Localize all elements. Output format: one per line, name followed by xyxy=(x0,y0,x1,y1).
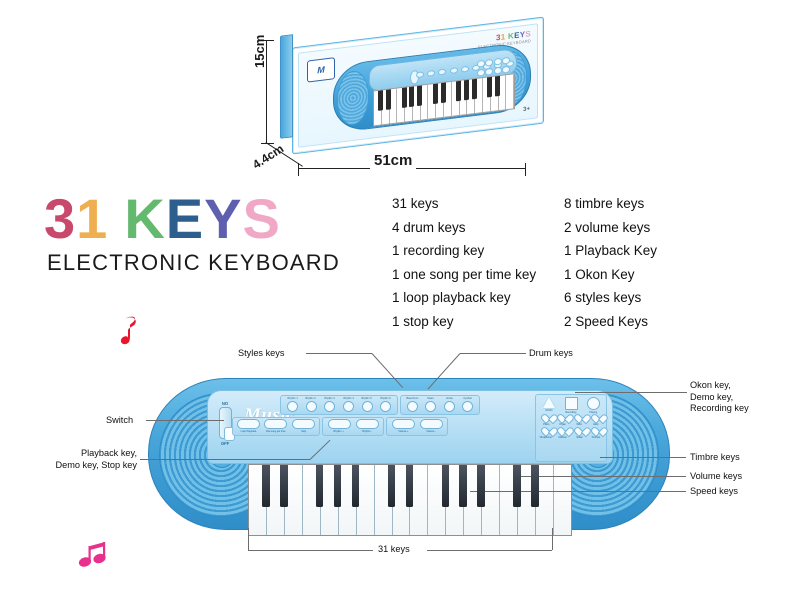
playback-key-label: Loop Playback xyxy=(241,430,257,433)
switch-off-label: OFF xyxy=(216,441,234,446)
styles-key-label: Rhythm 6 xyxy=(381,397,391,400)
headline-title: 31 KEYS xyxy=(44,190,340,248)
heart-icon xyxy=(558,415,567,423)
white-key[interactable] xyxy=(375,465,393,535)
timbre-key[interactable]: Violin xyxy=(572,415,588,427)
timbre-panel: OKON Recording Playing Piano Organ Violi… xyxy=(535,394,607,462)
keyboard-diagram: NO OFF Music Rhythm 1 Rhythm 2 Rhythm 3 … xyxy=(148,370,668,535)
headline-letter-s: S xyxy=(242,190,280,248)
volume-key-label: Volume - xyxy=(426,430,435,433)
white-key[interactable] xyxy=(249,465,267,535)
styles-keys-group: Rhythm 1 Rhythm 2 Rhythm 3 Rhythm 4 Rhyt… xyxy=(280,395,398,415)
white-key[interactable] xyxy=(500,465,518,535)
bracket-line-left xyxy=(248,550,373,551)
heart-icon xyxy=(541,415,550,423)
timbre-key-label: Guitar xyxy=(576,436,583,439)
leader-line-switch xyxy=(146,420,224,421)
leader-line-playback xyxy=(140,459,310,460)
styles-key[interactable]: Rhythm 2 xyxy=(302,397,321,412)
okon-key-label: OKON xyxy=(545,409,552,412)
callout-volume-keys: Volume keys xyxy=(690,471,742,483)
drum-keys-group: Bass Drum Snare Hi-hat Cymbal xyxy=(400,395,480,415)
white-key[interactable] xyxy=(285,465,303,535)
retail-box: M 31 KEYS ELECTRONIC KEYBOARD 3+ xyxy=(292,17,544,155)
drum-key[interactable]: Hi-hat xyxy=(440,397,459,412)
dimension-label-depth: 4.4cm xyxy=(250,141,286,171)
callout-okon-group: Okon key, Demo key, Recording key xyxy=(690,380,749,415)
styles-key-label: Rhythm 5 xyxy=(362,397,372,400)
styles-key-label: Rhythm 1 xyxy=(287,397,297,400)
timbre-key-label: Vibraphone xyxy=(540,436,552,439)
mode-keys-group: OKON Recording Playing xyxy=(536,395,606,414)
playback-key[interactable]: Loop Playback xyxy=(235,419,262,433)
playback-key-label: One song per time xyxy=(266,430,286,433)
heart-icon xyxy=(592,415,601,423)
timbre-key-label: Clarinet xyxy=(558,436,566,439)
control-panel: NO OFF Music Rhythm 1 Rhythm 2 Rhythm 3 … xyxy=(207,390,613,464)
heart-icon xyxy=(541,428,550,436)
callout-okon-line3: Recording key xyxy=(690,403,749,415)
playing-key[interactable]: Playing xyxy=(582,397,604,414)
triangle-icon xyxy=(543,397,555,408)
drum-key-label: Bass Drum xyxy=(406,397,418,400)
package-figure: M 31 KEYS ELECTRONIC KEYBOARD 3+ xyxy=(250,22,560,182)
feature-item: 1 loop playback key xyxy=(392,286,542,310)
playback-keys-group: Loop Playback One song per time Stop xyxy=(232,417,320,436)
brand-logo: M xyxy=(307,57,335,82)
timbre-key-label: Trumpet xyxy=(592,436,601,439)
volume-key[interactable]: Volume - xyxy=(417,419,445,433)
heart-icon xyxy=(558,428,567,436)
drum-key-label: Hi-hat xyxy=(446,397,452,400)
timbre-key[interactable]: Clarinet xyxy=(555,428,571,440)
white-key[interactable] xyxy=(339,465,357,535)
playback-key[interactable]: Stop xyxy=(290,419,317,433)
feature-item: 1 recording key xyxy=(392,239,542,263)
speed-key[interactable]: Rhythm - xyxy=(353,419,381,433)
leader-line-volume xyxy=(520,476,686,477)
okon-key[interactable]: OKON xyxy=(538,397,560,414)
drum-key[interactable]: Bass Drum xyxy=(403,397,422,412)
bracket-left-tick xyxy=(248,528,249,550)
leader-line-drum xyxy=(460,353,526,354)
switch-on-label: NO xyxy=(216,401,234,406)
heart-icon xyxy=(575,428,584,436)
bracket-right-tick xyxy=(552,528,553,550)
feature-item: 1 Playback Key xyxy=(564,239,724,263)
drum-key-label: Cymbal xyxy=(464,397,472,400)
feature-item: 1 one song per time key xyxy=(392,263,542,287)
speed-key[interactable]: Rhythm + xyxy=(325,419,353,433)
white-key[interactable] xyxy=(464,465,482,535)
music-note-pink-icon xyxy=(78,540,112,577)
callout-playback-group: Playback key, Demo key, Stop key xyxy=(12,448,137,471)
leader-line-okon xyxy=(575,392,687,393)
styles-key-label: Rhythm 4 xyxy=(343,397,353,400)
headline-letter-y: Y xyxy=(204,190,242,248)
drum-key-label: Snare xyxy=(428,397,434,400)
box-spine xyxy=(280,34,293,139)
timbre-key[interactable]: Guitar xyxy=(572,428,588,440)
square-icon xyxy=(565,397,578,410)
drum-key[interactable]: Cymbal xyxy=(459,397,478,412)
callout-playback-line1: Playback key, xyxy=(12,448,137,460)
styles-key[interactable]: Rhythm 5 xyxy=(358,397,377,412)
dimension-label-width: 51cm xyxy=(370,152,416,169)
heart-icon xyxy=(575,415,584,423)
timbre-key[interactable]: Organ xyxy=(555,415,571,427)
timbre-key[interactable]: Harp xyxy=(588,415,604,427)
recording-key[interactable]: Recording xyxy=(560,397,582,414)
feature-item: 1 stop key xyxy=(392,310,542,334)
white-key[interactable] xyxy=(410,465,428,535)
mini-keyboard-illustration xyxy=(333,41,531,133)
styles-key-label: Rhythm 3 xyxy=(325,397,335,400)
callout-timbre-keys: Timbre keys xyxy=(690,452,740,464)
leader-line-speed xyxy=(470,491,686,492)
speed-key-label: Rhythm - xyxy=(362,430,372,433)
styles-key[interactable]: Rhythm 6 xyxy=(376,397,395,412)
playback-key[interactable]: One song per time xyxy=(262,419,289,433)
feature-item: 31 keys xyxy=(392,192,542,216)
feature-item: 2 Speed Keys xyxy=(564,310,724,334)
styles-key[interactable]: Rhythm 4 xyxy=(339,397,358,412)
volume-key-label: Volume + xyxy=(398,430,408,433)
headline-letter-3: 3 xyxy=(44,190,76,248)
feature-item: 4 drum keys xyxy=(392,216,542,240)
styles-key[interactable]: Rhythm 3 xyxy=(320,397,339,412)
headline-letter-k: K xyxy=(124,190,165,248)
callout-okon-line2: Demo key, xyxy=(690,392,749,404)
callout-drum-keys: Drum keys xyxy=(529,348,573,360)
box-front-face: M 31 KEYS ELECTRONIC KEYBOARD 3+ xyxy=(298,23,538,147)
drum-key[interactable]: Snare xyxy=(422,397,441,412)
headline-subtitle: ELECTRONIC KEYBOARD xyxy=(44,250,340,276)
feature-item: 6 styles keys xyxy=(564,286,724,310)
keyboard-body: NO OFF Music Rhythm 1 Rhythm 2 Rhythm 3 … xyxy=(148,378,670,530)
white-key[interactable] xyxy=(321,465,339,535)
playback-key-label: Stop xyxy=(301,430,306,433)
headline-letter-1: 1 xyxy=(76,190,108,248)
callout-speed-keys: Speed keys xyxy=(690,486,738,498)
leader-line-styles xyxy=(306,353,372,354)
volume-keys-group: Volume + Volume - xyxy=(386,417,448,436)
callout-okon-line1: Okon key, xyxy=(690,380,749,392)
styles-key[interactable]: Rhythm 1 xyxy=(283,397,302,412)
timbre-keys-group: Piano Organ Violin Harp Vibraphone Clari… xyxy=(536,414,606,440)
circle-icon xyxy=(587,397,600,410)
callout-styles-keys: Styles keys xyxy=(238,348,284,360)
piano-keys xyxy=(248,464,572,536)
heart-icon xyxy=(592,428,601,436)
volume-key[interactable]: Volume + xyxy=(389,419,417,433)
white-key[interactable] xyxy=(303,465,321,535)
speed-key-label: Rhythm + xyxy=(334,430,344,433)
timbre-key[interactable]: Trumpet xyxy=(588,428,604,440)
headline-letter-e: E xyxy=(166,190,204,248)
callout-total-keys: 31 keys xyxy=(378,544,410,556)
styles-key-label: Rhythm 2 xyxy=(306,397,316,400)
white-key[interactable] xyxy=(267,465,285,535)
leader-line-timbre xyxy=(600,457,686,458)
feature-item: 1 Okon Key xyxy=(564,263,724,287)
white-key[interactable] xyxy=(428,465,446,535)
feature-item: 8 timbre keys xyxy=(564,192,724,216)
dimension-label-height: 15cm xyxy=(252,35,267,68)
feature-list: 31 keys 8 timbre keys 4 drum keys 2 volu… xyxy=(392,192,752,333)
callout-playback-line2: Demo key, Stop key xyxy=(12,460,137,472)
timbre-key[interactable]: Piano xyxy=(538,415,554,427)
white-key[interactable] xyxy=(482,465,500,535)
music-note-red-icon xyxy=(118,313,144,352)
switch-track xyxy=(219,407,232,439)
headline-block: 31 KEYS ELECTRONIC KEYBOARD xyxy=(44,190,340,276)
callout-switch: Switch xyxy=(106,415,133,427)
feature-item: 2 volume keys xyxy=(564,216,724,240)
white-key[interactable] xyxy=(393,465,411,535)
timbre-key[interactable]: Vibraphone xyxy=(538,428,554,440)
speed-keys-group: Rhythm + Rhythm - xyxy=(322,417,384,436)
bracket-line-right xyxy=(427,550,552,551)
white-key[interactable] xyxy=(357,465,375,535)
white-key[interactable] xyxy=(446,465,464,535)
